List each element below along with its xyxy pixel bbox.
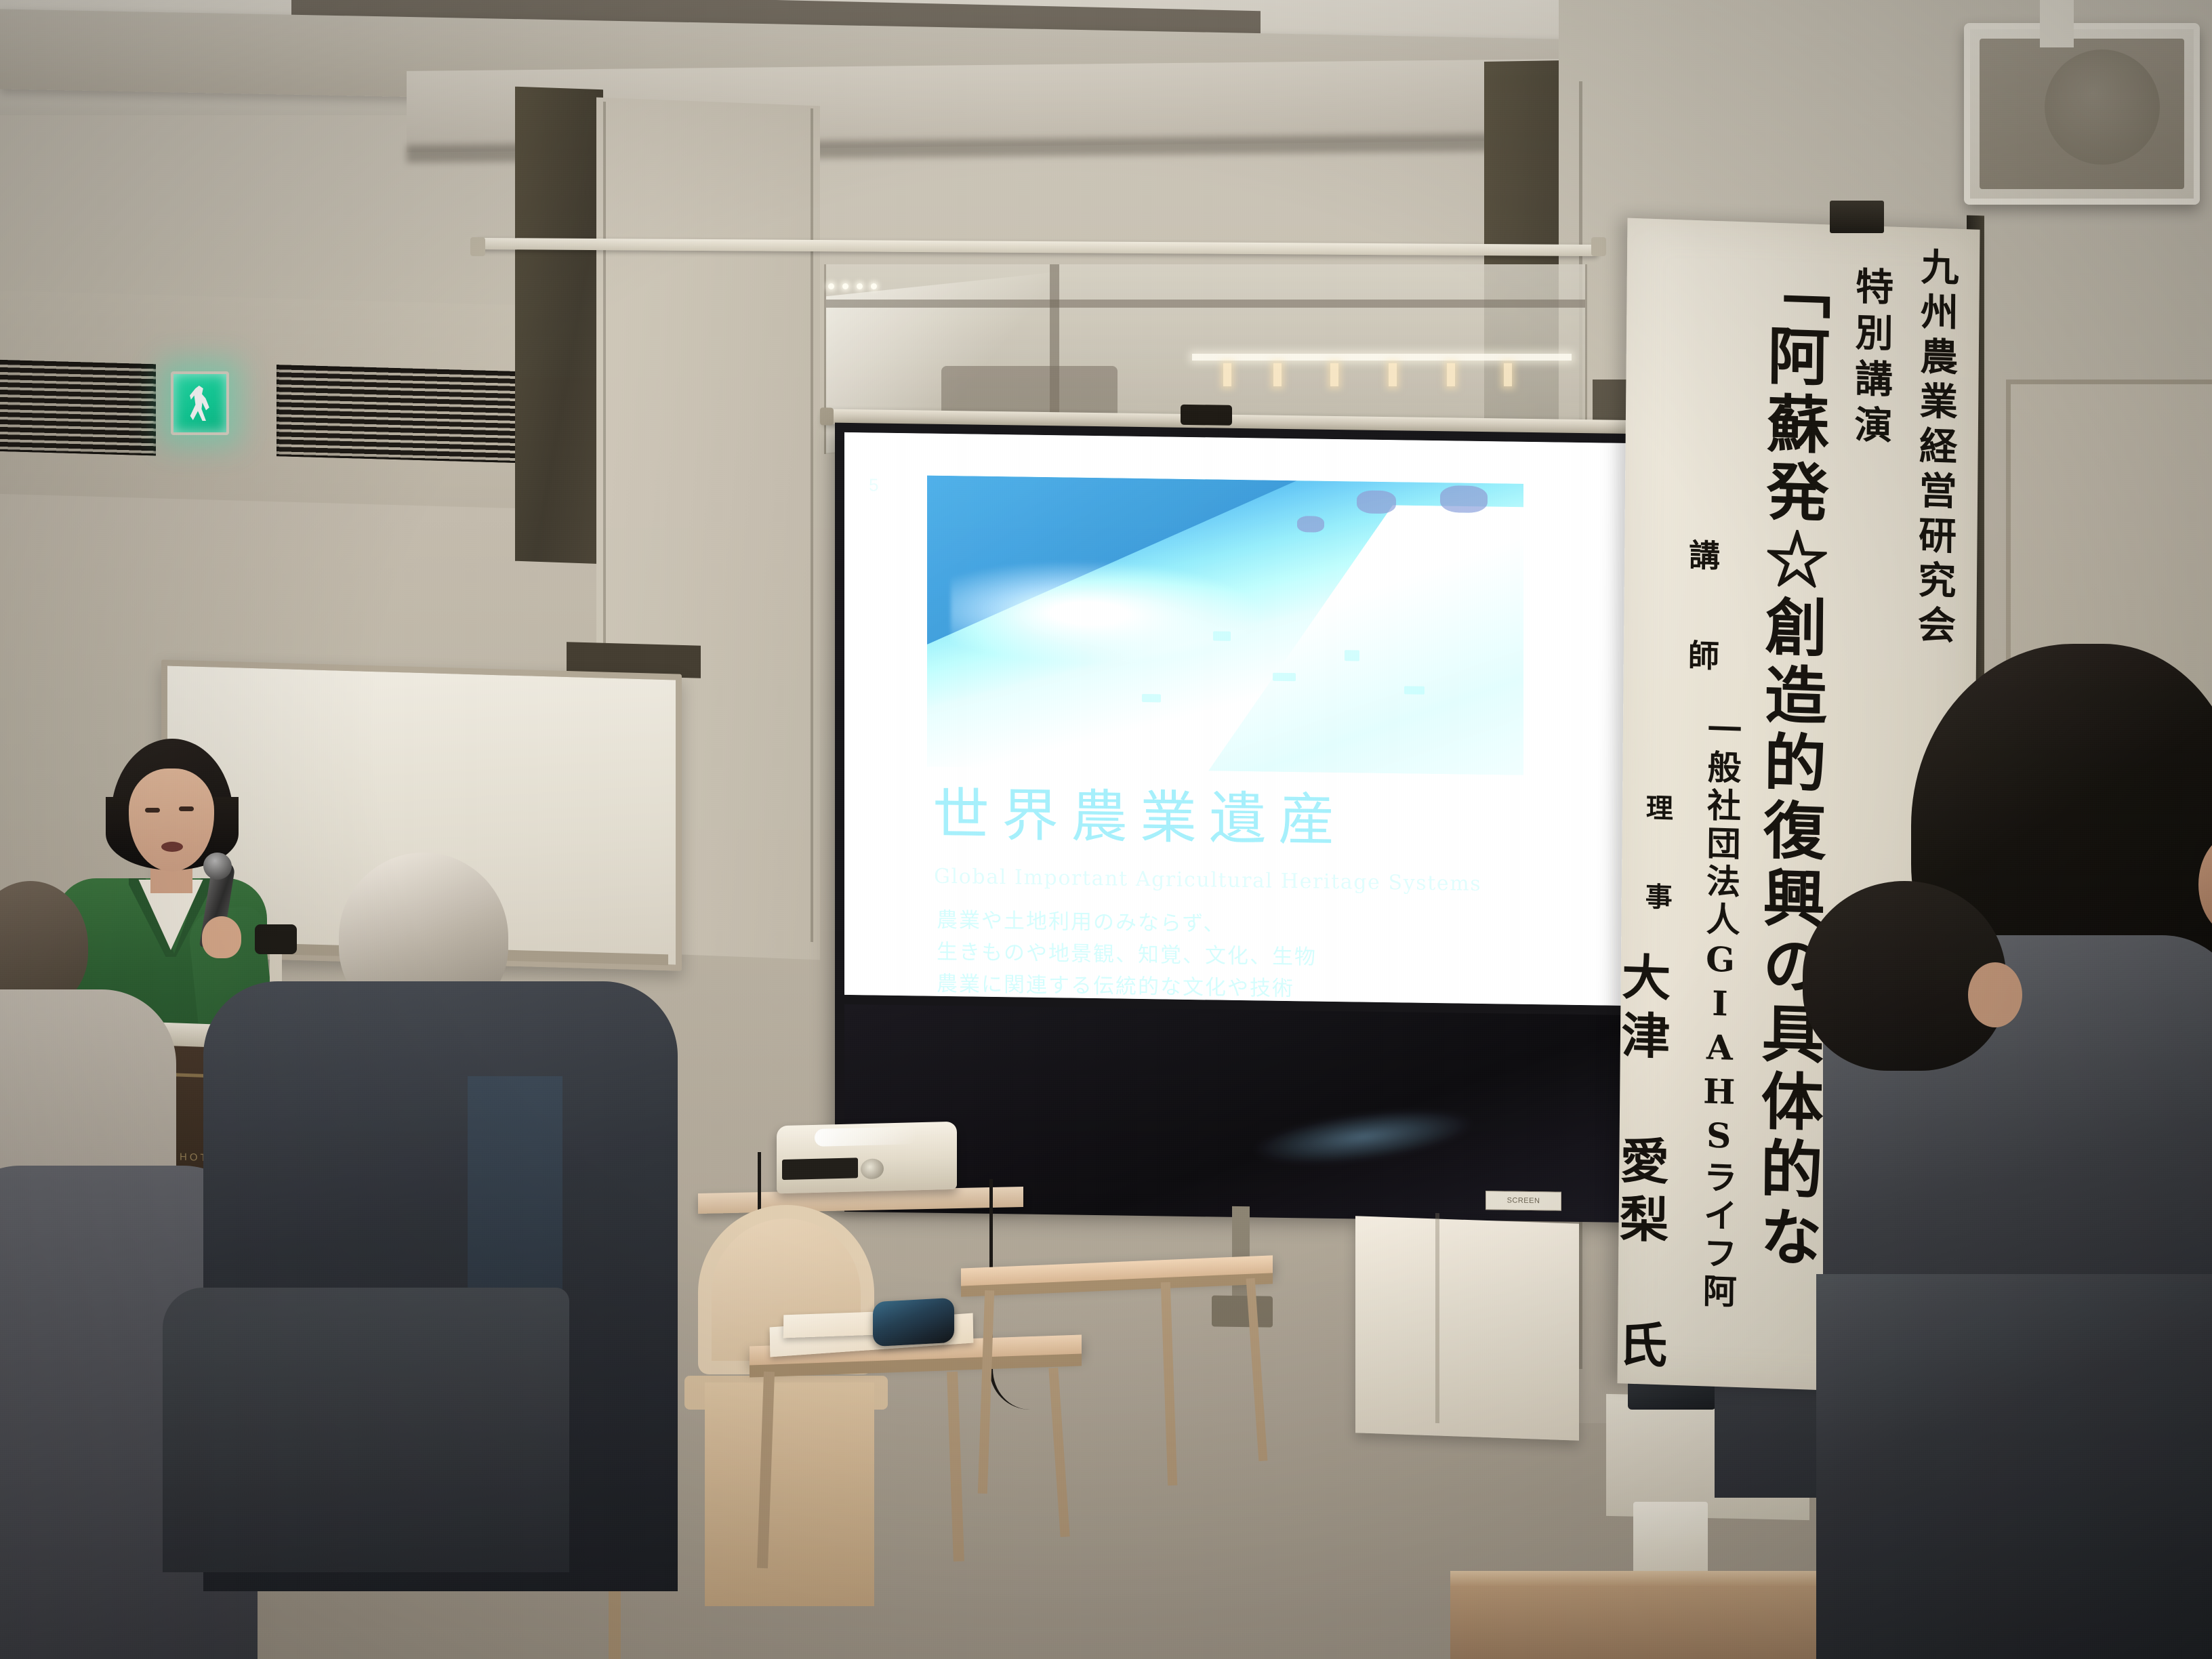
slide-photo-aso-crater <box>927 476 1523 775</box>
draped-table-cloth <box>1355 1216 1579 1441</box>
emergency-exit-running-man-icon <box>171 371 229 435</box>
slide-body-line: 農業に関連する伝統的な文化や技術 <box>937 971 1587 1006</box>
curtain-rail-cap <box>470 237 485 256</box>
wall-pillar-left <box>515 87 603 565</box>
banner-organization: 一般社団法人GIAHSライフ阿 <box>1692 711 1746 1312</box>
ceiling-bulb <box>1223 363 1231 386</box>
slide-subtitle: Global Important Agricultural Heritage S… <box>934 865 1612 898</box>
projection-screen: 5 世界農業遺産 Glob <box>835 409 1643 1234</box>
screen-badge: SCREEN <box>1486 1191 1561 1211</box>
banner-speaker-name: 大津 愛梨 氏 <box>1603 951 1678 1378</box>
projector-highlight <box>815 1126 916 1147</box>
slide-photo-speck <box>1345 651 1359 661</box>
slide-photo-foam <box>951 552 1285 673</box>
slide-photo-speck <box>1404 686 1425 694</box>
banner-lecturer-label: 講 師 <box>1679 538 1725 687</box>
occluder-body <box>1816 1274 2212 1659</box>
slide-photo-rock <box>1357 490 1396 514</box>
ceiling-bulb <box>1330 363 1338 386</box>
dark-camera-pouch[interactable] <box>873 1298 954 1347</box>
air-vent-left <box>0 360 156 456</box>
projector[interactable] <box>777 1122 957 1194</box>
banner-role: 理 事 <box>1636 793 1677 925</box>
audience-lap <box>163 1288 569 1572</box>
banner-clip <box>1830 201 1884 233</box>
slide: 5 世界農業遺産 Glob <box>844 432 1629 1006</box>
slide-photo-rock <box>1440 485 1488 513</box>
curtain-rail-cap <box>1591 237 1606 256</box>
chair-skirt <box>705 1382 874 1606</box>
microphone-stand-clip <box>255 924 297 954</box>
slide-page-number: 5 <box>869 474 878 495</box>
presenter-eye <box>145 808 160 813</box>
slide-photo-speck <box>1213 631 1231 640</box>
wall-seam <box>811 108 813 942</box>
slide-body-line: 農業や土地利用のみならず、 <box>937 908 1587 943</box>
occluder-ear-2 <box>1968 962 2022 1027</box>
slide-photo-rock <box>1297 516 1324 533</box>
pa-speaker <box>1964 23 2200 205</box>
banner-special-label: 特別講演 <box>1843 266 1900 452</box>
slide-photo-speck <box>1142 694 1161 702</box>
slide-body-line: 生きものや地景観、知覚、文化、生物 <box>937 940 1587 975</box>
ceiling-bulb <box>1447 363 1455 386</box>
projector-lens-icon <box>861 1158 884 1179</box>
screen-gleam <box>1249 1099 1477 1174</box>
screen-mount-bracket <box>1181 405 1232 426</box>
slide-body: 農業や土地利用のみならず、 生きものや地景観、知覚、文化、生物 農業に関連する伝… <box>937 908 1587 1006</box>
screen-top-cap <box>820 407 834 425</box>
screen-stand-base <box>1212 1295 1273 1327</box>
photo-scene: 5 世界農業遺産 Glob <box>0 0 2212 1659</box>
ceiling-bulb <box>1389 363 1397 386</box>
ceiling-bulb <box>1504 363 1512 386</box>
ceiling-bulb <box>1273 363 1282 386</box>
banner-host-org: 九州農業経営研究会 <box>1906 246 1965 651</box>
slide-title: 世界農業遺産 <box>933 786 1556 852</box>
screen-surface: 5 世界農業遺産 Glob <box>844 432 1629 1006</box>
running-man-glyph <box>190 386 210 421</box>
projector-vent <box>782 1158 858 1180</box>
slide-photo-speck <box>1273 673 1296 681</box>
ceiling-spotlight-row <box>828 283 877 289</box>
speaker-cone-icon <box>2045 49 2160 165</box>
presenter-mouth <box>161 842 183 852</box>
ceiling-light-strip <box>1192 354 1572 361</box>
screen-frame: 5 世界農業遺産 Glob <box>835 423 1639 1214</box>
presenter-eye <box>179 806 194 811</box>
glass-mullion-h <box>826 300 1585 308</box>
presenter-hand <box>202 916 241 958</box>
cloth-fold <box>1435 1213 1439 1423</box>
speaker-bracket <box>2040 0 2074 47</box>
